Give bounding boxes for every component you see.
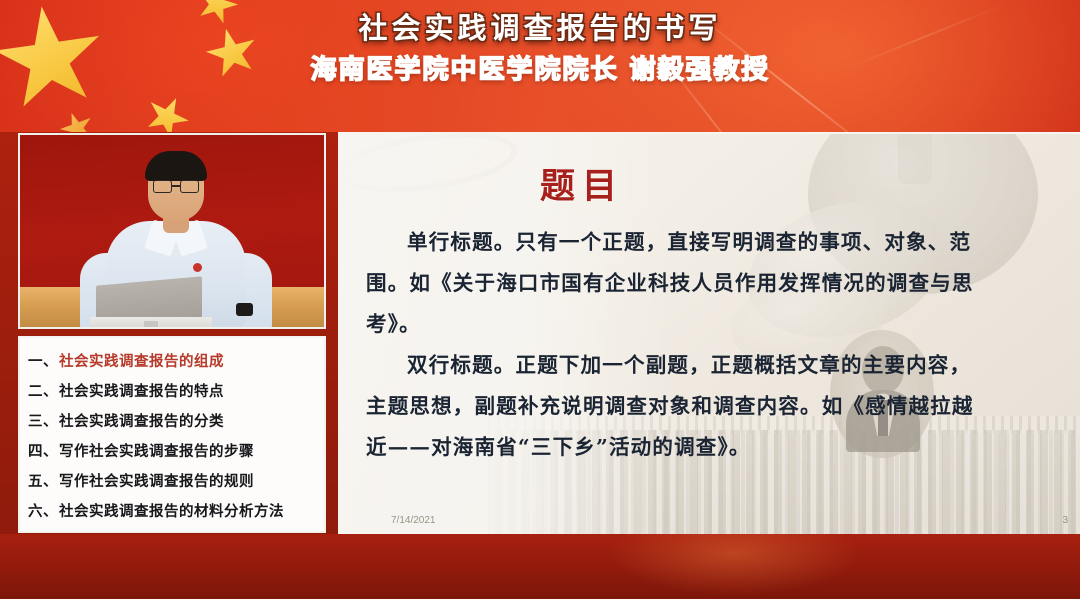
outline-item-5[interactable]: 五、 写作社会实践调查报告的规则 [28, 467, 320, 497]
broadcast-screen: 社会实践调查报告的书写 海南医学院中医学院院长 谢毅强教授 一、 社会实践调查报… [0, 0, 1080, 599]
slide-viewer[interactable]: 题目 单行标题。只有一个正题，直接写明调查的事项、对象、范围。如《关于海口市国有… [338, 132, 1080, 534]
outline-item-2-label: 社会实践调查报告的特点 [59, 377, 224, 407]
speaker-lapel-badge [193, 263, 202, 272]
outline-item-1[interactable]: 一、 社会实践调查报告的组成 [28, 347, 320, 377]
outline-item-3[interactable]: 三、 社会实践调查报告的分类 [28, 407, 320, 437]
outline-item-4[interactable]: 四、 写作社会实践调查报告的步骤 [28, 437, 320, 467]
outline-item-4-number: 四、 [28, 437, 58, 467]
outline-item-4-label: 写作社会实践调查报告的步骤 [59, 437, 254, 467]
slide-page-number: 3 [1062, 515, 1068, 526]
flag-star-small-3 [138, 88, 196, 132]
outline-item-5-number: 五、 [28, 467, 58, 497]
slide-footer-date: 7/14/2021 [391, 515, 436, 526]
slide-paragraph-2: 双行标题。正题下加一个副题，正题概括文章的主要内容，主题思想，副题补充说明调查对… [366, 345, 974, 468]
bottom-bar [0, 534, 1080, 599]
slide-paragraph-1: 单行标题。只有一个正题，直接写明调查的事项、对象、范围。如《关于海口市国有企业科… [366, 222, 974, 345]
flag-star-small-4 [56, 107, 99, 132]
speaker-wristwatch [236, 303, 253, 316]
outline-item-3-number: 三、 [28, 407, 58, 437]
page-subtitle: 海南医学院中医学院院长 谢毅强教授 [0, 50, 1080, 90]
outline-item-6-label: 社会实践调查报告的材料分析方法 [59, 497, 284, 527]
outline-item-1-label: 社会实践调查报告的组成 [59, 347, 224, 377]
speaker-video-panel[interactable] [18, 133, 326, 329]
laptop-touchpad [144, 321, 158, 328]
outline-item-6[interactable]: 六、 社会实践调查报告的材料分析方法 [28, 497, 320, 527]
outline-panel: 一、 社会实践调查报告的组成 二、 社会实践调查报告的特点 三、 社会实践调查报… [18, 336, 326, 533]
glasses-lens-left-icon [153, 180, 172, 193]
outline-item-5-label: 写作社会实践调查报告的规则 [59, 467, 254, 497]
title-block: 社会实践调查报告的书写 海南医学院中医学院院长 谢毅强教授 [0, 6, 1080, 90]
outline-item-2[interactable]: 二、 社会实践调查报告的特点 [28, 377, 320, 407]
glasses-lens-right-icon [180, 180, 199, 193]
outline-item-6-number: 六、 [28, 497, 58, 527]
outline-item-2-number: 二、 [28, 377, 58, 407]
page-title: 社会实践调查报告的书写 [0, 6, 1080, 50]
outline-item-3-label: 社会实践调查报告的分类 [59, 407, 224, 437]
slide-body: 单行标题。只有一个正题，直接写明调查的事项、对象、范围。如《关于海口市国有企业科… [366, 222, 974, 468]
glasses-bridge-icon [172, 185, 180, 187]
slide-content: 题目 单行标题。只有一个正题，直接写明调查的事项、对象、范围。如《关于海口市国有… [338, 134, 1080, 534]
slide-heading: 题目 [540, 158, 624, 209]
outline-item-1-number: 一、 [28, 347, 58, 377]
